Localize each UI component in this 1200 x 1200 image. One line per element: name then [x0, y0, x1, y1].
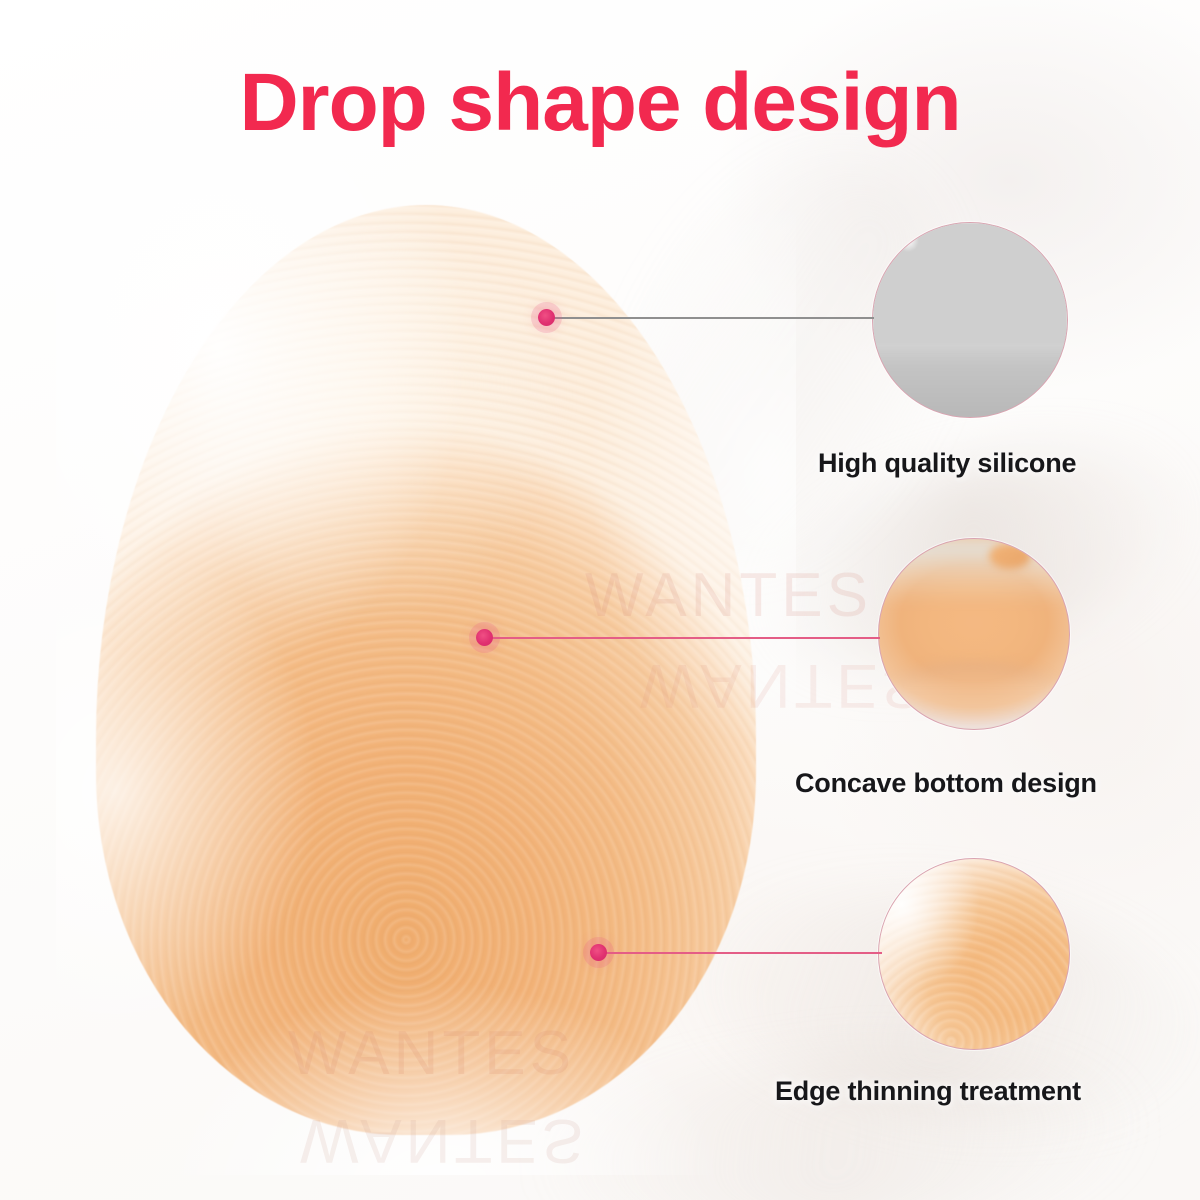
anchor-dot-2[interactable] [476, 629, 493, 646]
callout-image-concave-bottom [878, 538, 1070, 730]
leader-line-1 [548, 317, 874, 319]
concave-rim-shadow [890, 661, 1057, 718]
anchor-dot-3[interactable] [590, 944, 607, 961]
edge-fade-highlight [879, 859, 1069, 1049]
infographic-canvas: Drop shape design WANTES WANTES WANTES W… [0, 0, 1200, 1200]
granule-surface-shelf [873, 343, 1067, 417]
callout-image-edge-thinning [878, 858, 1070, 1050]
leader-line-2 [486, 637, 880, 639]
callout-image-silicone-granules [872, 222, 1068, 418]
anchor-dot-1[interactable] [538, 309, 555, 326]
page-title: Drop shape design [0, 62, 1200, 144]
silicone-granules-texture [873, 223, 1067, 351]
product-image [96, 205, 756, 1135]
leader-line-3 [600, 952, 882, 954]
product-highlight [202, 242, 572, 633]
callout-label-1: High quality silicone [818, 448, 1076, 479]
callout-label-3: Edge thinning treatment [775, 1076, 1081, 1107]
concave-top-shadow [879, 539, 1069, 604]
callout-label-2: Concave bottom design [795, 768, 1097, 799]
